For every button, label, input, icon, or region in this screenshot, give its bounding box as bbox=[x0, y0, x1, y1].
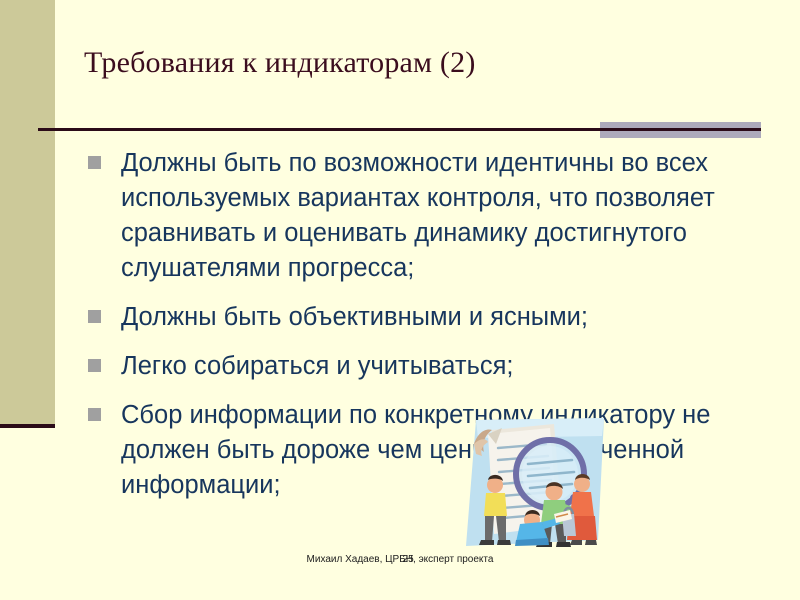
list-item-text: Сбор информации по конкретному индикатор… bbox=[121, 398, 758, 503]
documents-magnifier-people-icon bbox=[458, 418, 604, 549]
footer: Михаил Хадаев, ЦРБН, эксперт проекта 25 bbox=[0, 554, 800, 565]
left-decorative-band bbox=[0, 0, 55, 424]
list-item: Сбор информации по конкретному индикатор… bbox=[88, 398, 758, 503]
footer-inner: Михаил Хадаев, ЦРБН, эксперт проекта 25 bbox=[307, 554, 494, 565]
slide-number: 25 bbox=[403, 554, 414, 565]
list-item: Должны быть по возможности идентичны во … bbox=[88, 146, 758, 286]
list-item-text: Должны быть по возможности идентичны во … bbox=[121, 146, 758, 286]
list-item-text: Легко собираться и учитываться; bbox=[121, 349, 758, 384]
list-item: Должны быть объективными и ясными; bbox=[88, 300, 758, 335]
bullet-square-icon bbox=[88, 408, 101, 421]
bullet-square-icon bbox=[88, 359, 101, 372]
list-item-text: Должны быть объективными и ясными; bbox=[121, 300, 758, 335]
left-band-bottom-rule bbox=[0, 424, 55, 428]
bullet-square-icon bbox=[88, 156, 101, 169]
bullet-square-icon bbox=[88, 310, 101, 323]
slide-title: Требования к индикаторам (2) bbox=[84, 46, 774, 81]
list-item: Легко собираться и учитываться; bbox=[88, 349, 758, 384]
footer-text: Михаил Хадаев, ЦРБН, эксперт проекта bbox=[307, 554, 494, 565]
title-underline-rule bbox=[38, 128, 761, 131]
bullet-list: Должны быть по возможности идентичны во … bbox=[88, 146, 758, 517]
slide-canvas: Требования к индикаторам (2) Должны быть… bbox=[0, 0, 800, 600]
